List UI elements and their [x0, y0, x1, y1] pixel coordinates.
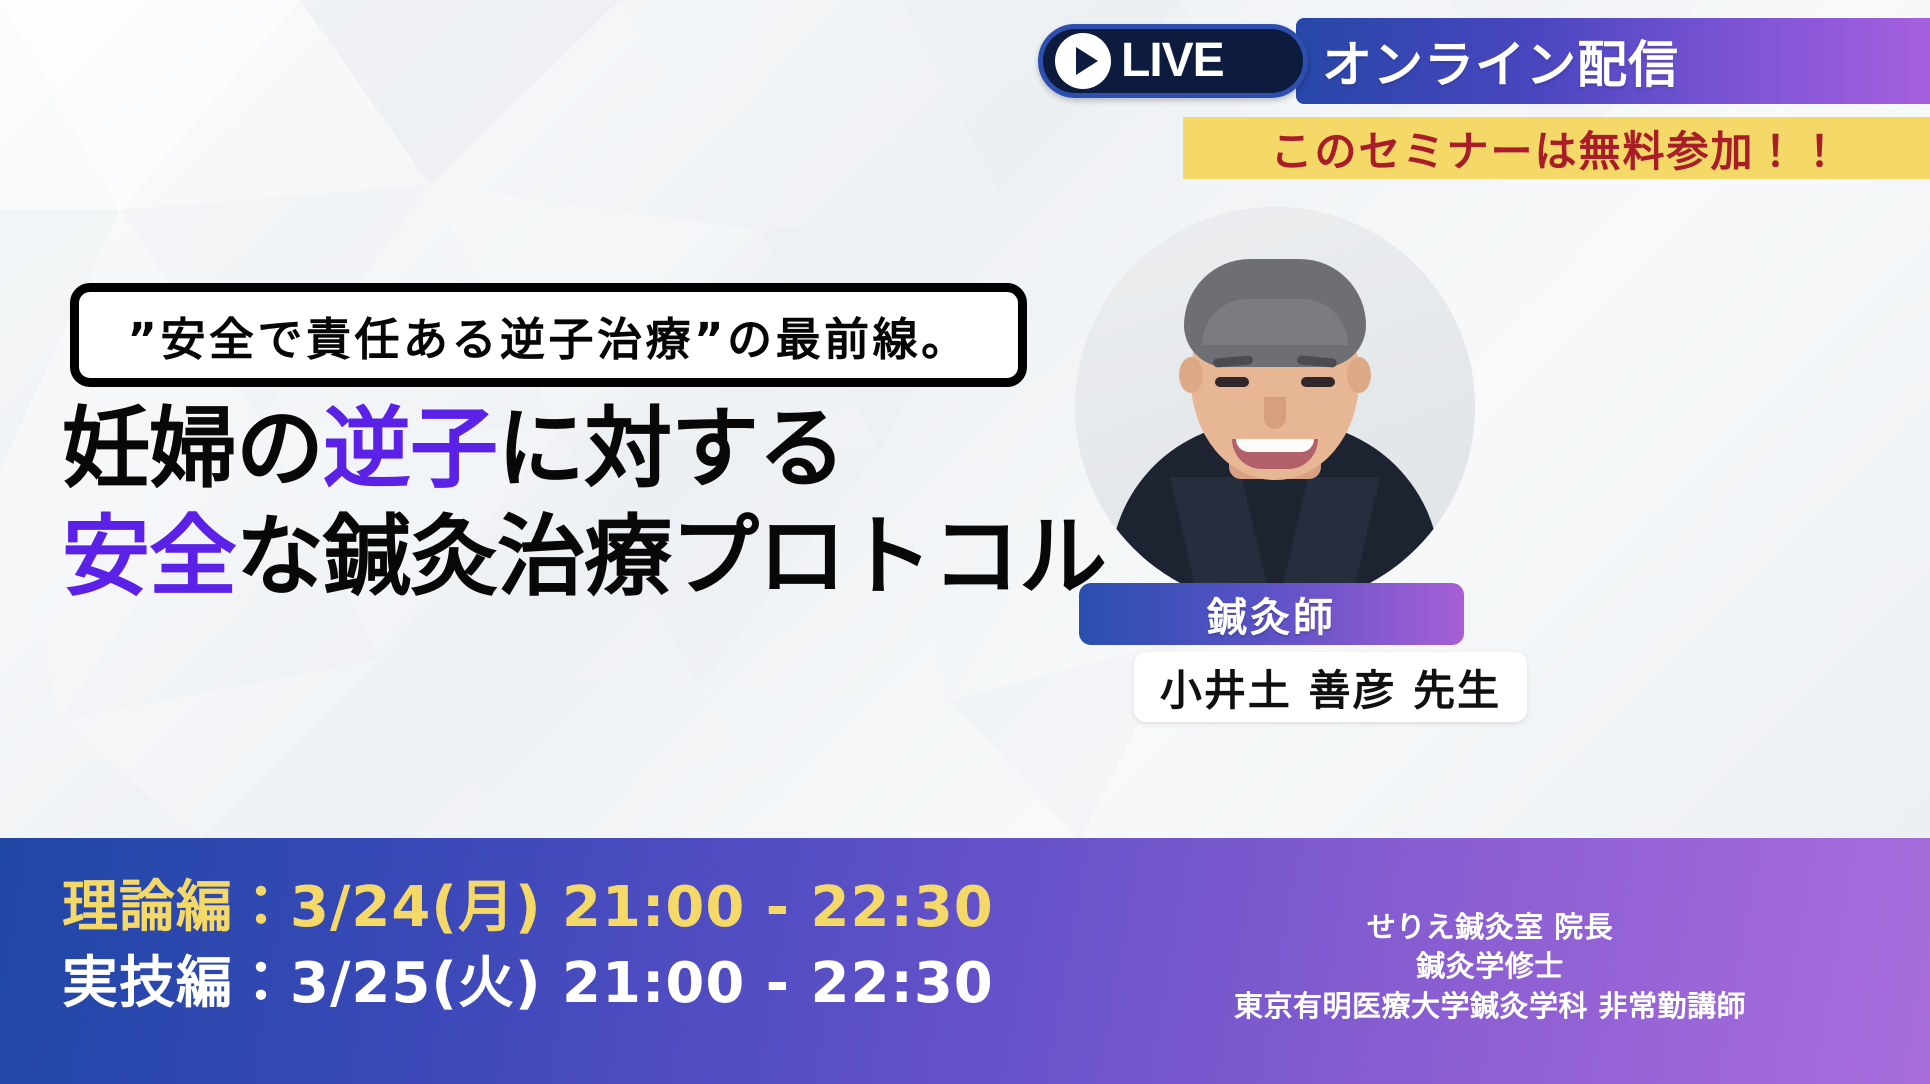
free-seminar-banner: このセミナーは無料参加！！: [1183, 117, 1930, 179]
live-badge: LIVE: [1038, 24, 1308, 98]
poster-root: LIVE オンライン配信 このセミナーは無料参加！！ ”安全で責任ある逆子治療”…: [0, 0, 1930, 1084]
headline-line1-pre: 妊婦の: [62, 397, 323, 500]
schedule-row-theory: 理論編：3/24(月) 21:00 - 22:30: [62, 870, 994, 946]
live-stream-banner: LIVE オンライン配信: [1296, 18, 1930, 104]
live-badge-label: LIVE: [1121, 37, 1224, 85]
headline-line1-post: に対する: [497, 397, 845, 500]
speaker-name-box: 小井土 善彦 先生: [1134, 652, 1527, 722]
speaker-title-badge: 鍼灸師: [1079, 583, 1464, 645]
schedule-practice-label: 実技編：: [62, 951, 290, 1016]
headline-line2-post: な鍼灸治療プロトコル: [236, 505, 1106, 608]
speaker-title-label: 鍼灸師: [1207, 585, 1336, 643]
play-icon: [1055, 33, 1111, 89]
credential-line: 東京有明医療大学鍼灸学科 非常勤講師: [1080, 987, 1900, 1026]
headline-line-1: 妊婦の逆子に対する: [62, 395, 1072, 503]
headline-line1-accent: 逆子: [323, 397, 497, 500]
headline-line2-accent: 安全: [62, 505, 236, 608]
schedule-list: 理論編：3/24(月) 21:00 - 22:30 実技編：3/25(火) 21…: [62, 870, 994, 1021]
online-stream-label: オンライン配信: [1322, 25, 1679, 97]
headline-line-2: 安全な鍼灸治療プロトコル: [62, 503, 1072, 611]
credential-line: せりえ鍼灸室 院長: [1080, 908, 1900, 947]
free-seminar-label: このセミナーは無料参加！！: [1270, 118, 1842, 179]
speaker-photo: [1075, 207, 1475, 607]
speaker-name-label: 小井土 善彦 先生: [1160, 657, 1501, 718]
schedule-theory-label: 理論編：: [62, 875, 290, 940]
schedule-row-practice: 実技編：3/25(火) 21:00 - 22:30: [62, 946, 994, 1022]
speaker-credentials: せりえ鍼灸室 院長 鍼灸学修士 東京有明医療大学鍼灸学科 非常勤講師: [1080, 908, 1900, 1026]
main-headline: 妊婦の逆子に対する 安全な鍼灸治療プロトコル: [62, 395, 1072, 611]
schedule-theory-detail: 3/24(月) 21:00 - 22:30: [290, 875, 994, 940]
avatar: [1075, 207, 1475, 607]
credential-line: 鍼灸学修士: [1080, 947, 1900, 986]
subtitle-text: ”安全で責任ある逆子治療”の最前線。: [127, 303, 969, 368]
schedule-practice-detail: 3/25(火) 21:00 - 22:30: [290, 951, 994, 1016]
subtitle-box: ”安全で責任ある逆子治療”の最前線。: [70, 283, 1027, 387]
